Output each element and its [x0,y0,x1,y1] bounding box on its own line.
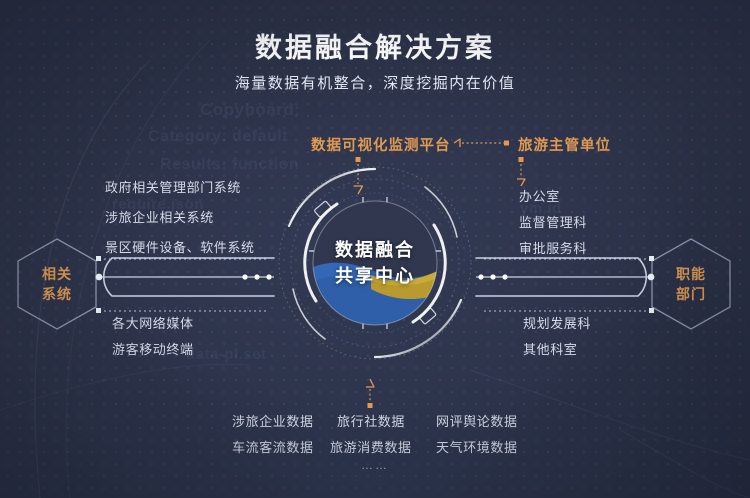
list-item: 涉旅企业相关系统 [105,207,214,226]
data-item: 旅游消费数据 [330,437,412,456]
dotted-left-arrow-icon [443,135,513,151]
ghost-text: Category: default [148,128,288,146]
node-label-line2: 系统 [42,284,72,304]
list-item: 其他科室 [523,339,577,358]
page-title: 数据融合解决方案 [0,26,750,65]
ghost-text: data-pl.set [186,346,267,363]
label-tourism-authority[interactable]: 旅游主管单位 [518,134,611,155]
data-item: 网评舆论数据 [436,411,518,430]
node-related-systems[interactable]: 相关 系统 [14,236,100,332]
center-hub-label: 数据融合 共享中心 [275,163,475,363]
center-hub-line2: 共享中心 [335,263,415,289]
list-item: 审批服务科 [519,238,587,257]
node-label-line2: 部门 [676,284,706,304]
list-item: 景区硬件设备、软件系统 [105,237,255,256]
node-label: 职能 部门 [648,236,734,332]
center-hub-line1: 数据融合 [335,237,415,263]
data-item: 涉旅企业数据 [232,411,314,430]
center-hub[interactable]: 数据融合 共享中心 [275,163,475,363]
node-label-line1: 相关 [42,264,72,284]
node-functional-departments[interactable]: 职能 部门 [648,236,734,332]
ghost-text: Copyboard: [200,100,300,120]
page-subtitle: 海量数据有机整合，深度挖掘内在价值 [0,72,750,93]
label-visualization-platform[interactable]: 数据可视化监测平台 [311,134,451,155]
list-item: 规划发展科 [523,313,591,332]
data-item: 天气环境数据 [436,437,518,456]
data-item: 车流客流数据 [232,437,314,456]
data-item: 旅行社数据 [337,411,405,430]
node-label-line1: 职能 [676,264,706,284]
infographic-canvas: Copyboard: Category: default Results: fu… [0,0,750,498]
data-ellipsis: …… [0,458,750,472]
dotted-up-arrow-icon [364,376,376,410]
node-label: 相关 系统 [14,236,100,332]
list-item: 游客移动终端 [112,339,194,358]
list-item: 办公室 [519,186,560,205]
list-item: 各大网络媒体 [112,313,194,332]
list-item: 政府相关管理部门系统 [105,177,241,196]
list-item: 监督管理科 [519,212,587,231]
